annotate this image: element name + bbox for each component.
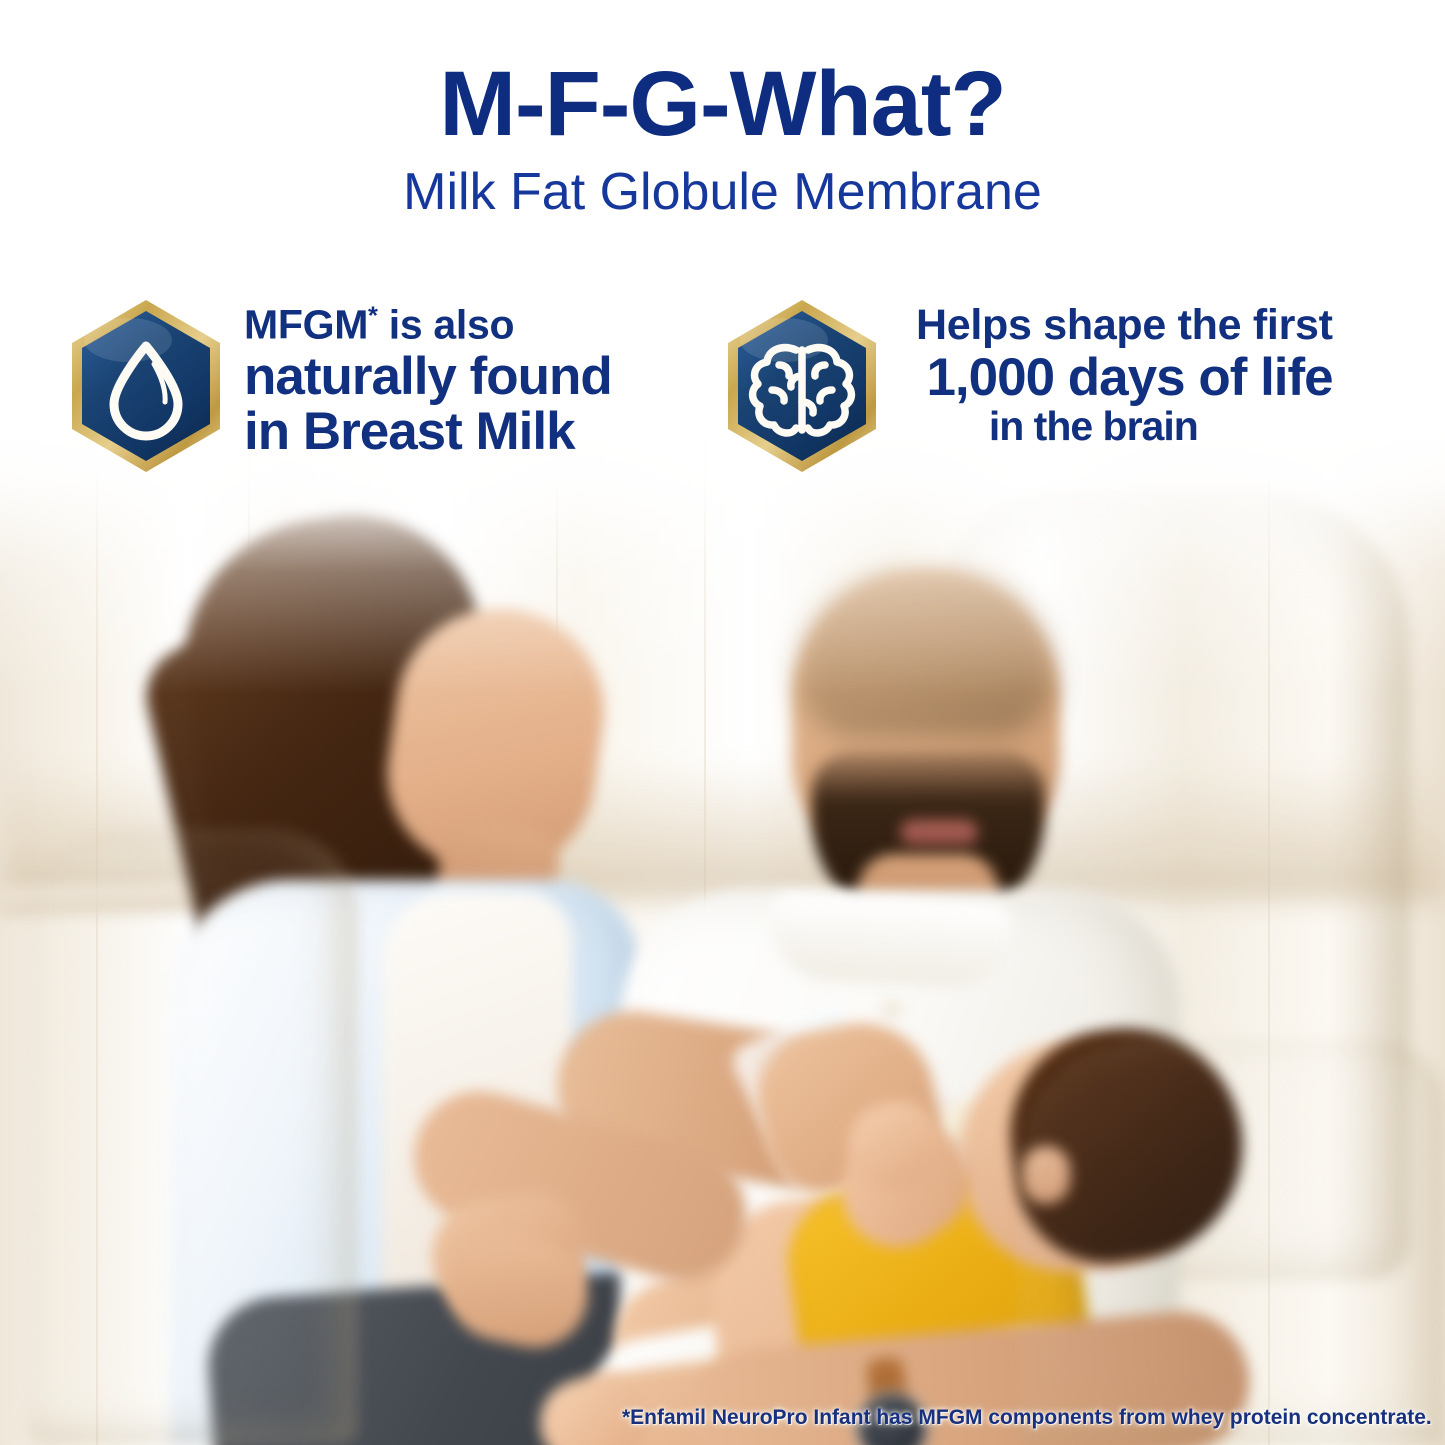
- benefit-line-1: Helps shape the first: [916, 304, 1333, 347]
- armchair-arm-right: [1020, 1040, 1445, 1445]
- enfamil-mfgm-ad: M-F-G-What? Milk Fat Globule Membrane: [0, 0, 1445, 1445]
- page-subtitle: Milk Fat Globule Membrane: [0, 166, 1445, 218]
- footnote-asterisk: *: [368, 302, 378, 330]
- father-mouth: [900, 820, 978, 846]
- brain-icon: [722, 298, 882, 474]
- milk-droplet-icon: [66, 298, 226, 474]
- benefit-milk-fat-globule: MFGM* is also naturally found in Breast …: [66, 298, 612, 474]
- shirt-button: [884, 1000, 899, 1015]
- benefit-line-2: 1,000 days of life: [916, 351, 1333, 404]
- benefit-line-3: in the brain: [916, 406, 1333, 447]
- benefit-line-3: in Breast Milk: [244, 405, 612, 458]
- family-photo: [0, 430, 1445, 1445]
- benefit-brain-text: Helps shape the first 1,000 days of life…: [916, 298, 1333, 447]
- benefit-milk-text: MFGM* is also naturally found in Breast …: [244, 298, 612, 458]
- father-scalp: [798, 570, 1054, 738]
- benefit-line-1: MFGM* is also: [244, 304, 612, 346]
- page-title: M-F-G-What?: [0, 58, 1445, 150]
- armchair-arm-left: [28, 830, 358, 1445]
- benefit-brain-development: Helps shape the first 1,000 days of life…: [722, 298, 1333, 474]
- legal-footnote: *Enfamil NeuroPro Infant has MFGM compon…: [622, 1406, 1432, 1430]
- benefit-line-2: naturally found: [244, 350, 612, 403]
